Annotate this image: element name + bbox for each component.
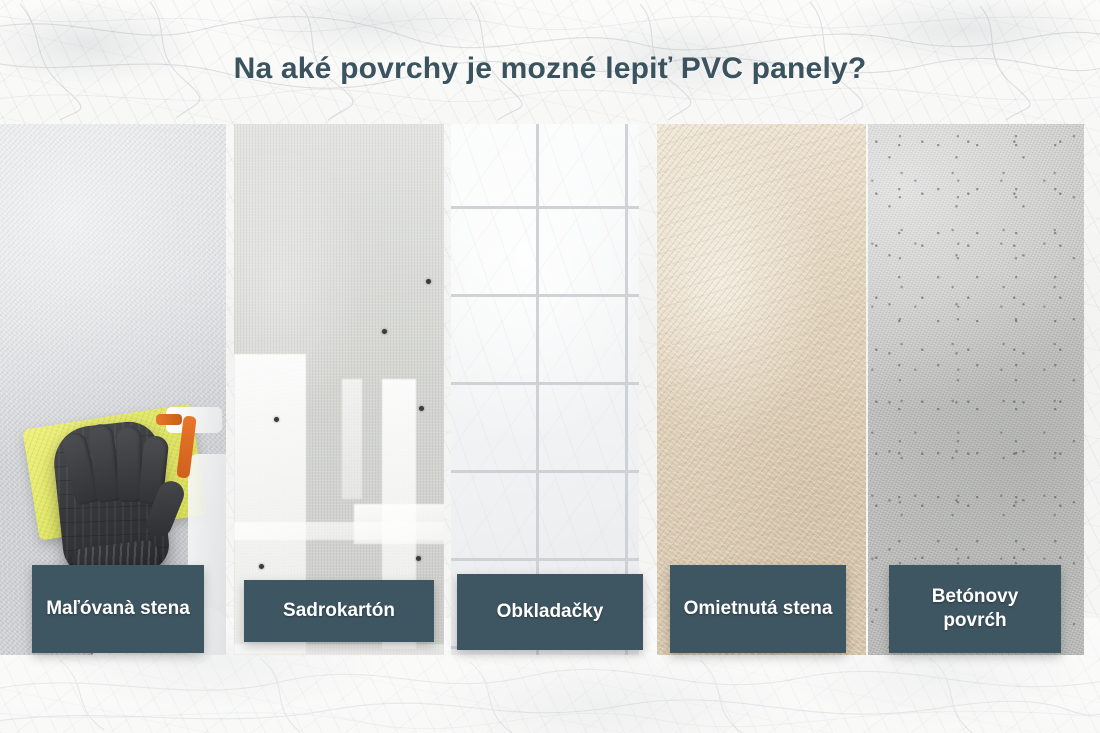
plasterboard-photo — [234, 124, 444, 655]
joint-compound-patch — [234, 644, 444, 655]
surface-panel-plasterboard[interactable] — [234, 124, 444, 655]
joint-compound-patch — [234, 522, 444, 540]
caption-concrete[interactable]: Betónovy povrćh — [889, 565, 1061, 653]
page-title: Na aké povrchy je mozné lepiť PVC panely… — [0, 52, 1100, 86]
spray-bottle-nozzle — [156, 414, 182, 425]
drywall-screw — [259, 564, 264, 569]
drywall-screw — [416, 556, 421, 561]
drywall-screw — [419, 406, 424, 411]
caption-plasterboard[interactable]: Sadrokartón — [244, 580, 434, 642]
caption-painted-wall[interactable]: Maľóvanà stena — [32, 565, 204, 653]
infographic-canvas: Na aké povrchy je mozné lepiť PVC panely… — [0, 0, 1100, 733]
drywall-screw — [274, 417, 279, 422]
drywall-screw — [426, 279, 431, 284]
joint-compound-patch — [342, 379, 362, 499]
caption-tiles[interactable]: Obkladačky — [457, 574, 643, 650]
drywall-screw — [382, 329, 387, 334]
caption-plastered-wall[interactable]: Omietnutá stena — [670, 565, 846, 653]
